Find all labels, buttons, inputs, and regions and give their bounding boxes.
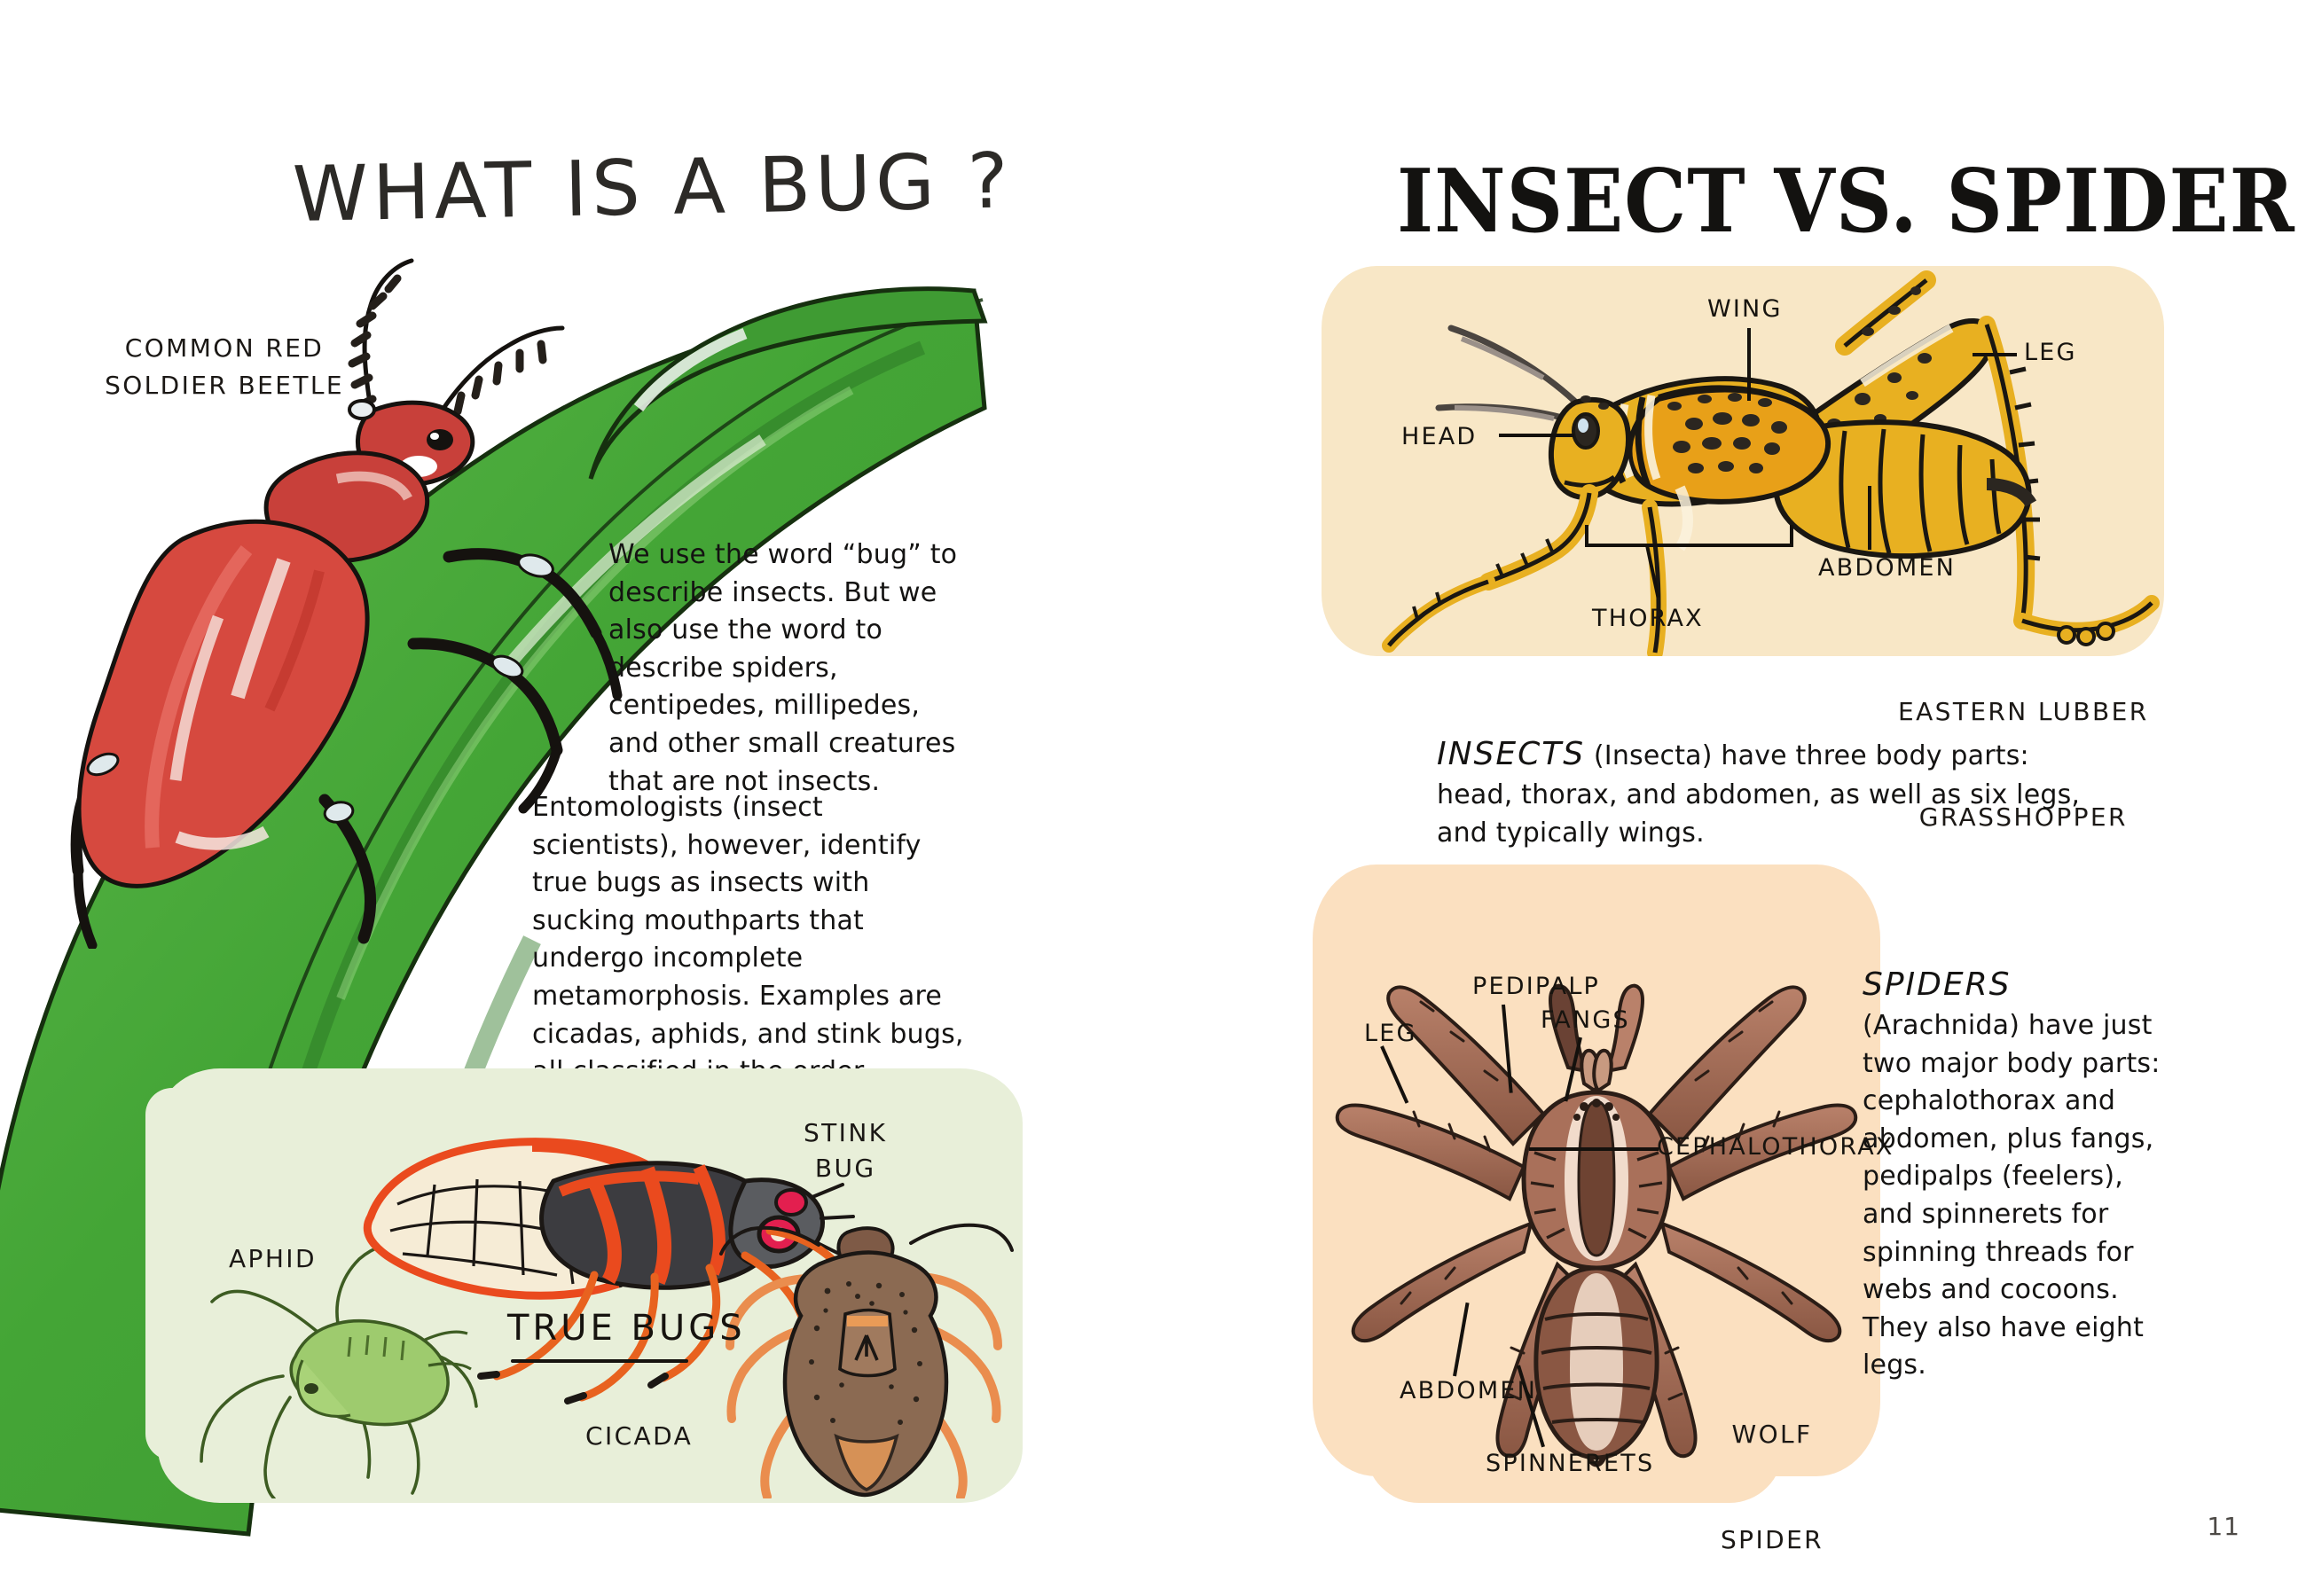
leader-abdomen (1868, 486, 1871, 550)
leader-thorax-bracket-bar (1585, 544, 1793, 547)
spiders-description: SPIDERS (Arachnida) have just two major … (1863, 962, 2169, 1385)
aphid-label: APHID (229, 1241, 317, 1277)
paragraph-bug-definition: We use the word “bug” to describe insect… (608, 536, 963, 801)
leader-wing (1747, 328, 1751, 401)
grasshopper-illustration (1366, 266, 2164, 656)
cicada-label: CICADA (585, 1419, 693, 1454)
leader-head (1499, 434, 1574, 437)
leader-thorax-bracket-right (1790, 525, 1793, 546)
stink-bug-illustration (714, 1179, 1016, 1498)
spider-label-fangs: FANGS (1541, 1006, 1630, 1034)
leader-spider-cephalothorax (1529, 1147, 1659, 1151)
insects-description: INSECTS (Insecta) have three body parts:… (1437, 731, 2111, 852)
page-title-what-is-a-bug: WHAT IS A BUG ? (292, 137, 1014, 239)
page-number: 11 (2207, 1512, 2240, 1541)
wolf-spider-caption-line-1: WOLF (1721, 1417, 1824, 1452)
grasshopper-caption-line-1: EASTERN LUBBER (1898, 694, 2149, 730)
leader-leg (1973, 353, 2017, 356)
wolf-spider-illustration (1242, 851, 1951, 1490)
spiders-body-text: (Arachnida) have just two major body par… (1863, 1010, 2161, 1381)
insect-label-leg: LEG (2024, 339, 2077, 366)
spider-label-pedipalp: PEDIPALP (1472, 973, 1600, 1000)
wolf-spider-caption: WOLF SPIDER (1721, 1346, 1824, 1596)
wolf-spider-caption-line-2: SPIDER (1721, 1522, 1824, 1558)
beetle-caption-line-2: SOLDIER BEETLE (91, 367, 357, 404)
beetle-caption-line-1: COMMON RED (91, 330, 357, 367)
insect-label-wing: WING (1707, 295, 1783, 323)
insects-lead-word: INSECTS (1437, 736, 1585, 772)
page-title-insect-vs-spider: INSECT VS. SPIDER (1397, 149, 2295, 252)
spider-label-abdomen: ABDOMEN (1400, 1377, 1537, 1404)
true-bugs-heading: TRUE BUGS (507, 1308, 746, 1349)
spiders-lead-word: SPIDERS (1863, 966, 2012, 1003)
insect-label-abdomen: ABDOMEN (1818, 554, 1956, 582)
spider-label-leg: LEG (1364, 1020, 1417, 1047)
stink-bug-label: STINK BUG (804, 1115, 887, 1186)
spider-label-spinnerets: SPINNERETS (1486, 1450, 1654, 1477)
book-spread: WHAT IS A BUG ? COMMON RED SOLDIER BEETL… (0, 0, 2306, 1596)
insect-label-thorax: THORAX (1592, 605, 1704, 632)
beetle-caption: COMMON RED SOLDIER BEETLE (91, 330, 357, 404)
spider-label-cephalothorax: CEPHALOTHORAX (1657, 1133, 1894, 1161)
insect-label-head: HEAD (1401, 423, 1477, 450)
